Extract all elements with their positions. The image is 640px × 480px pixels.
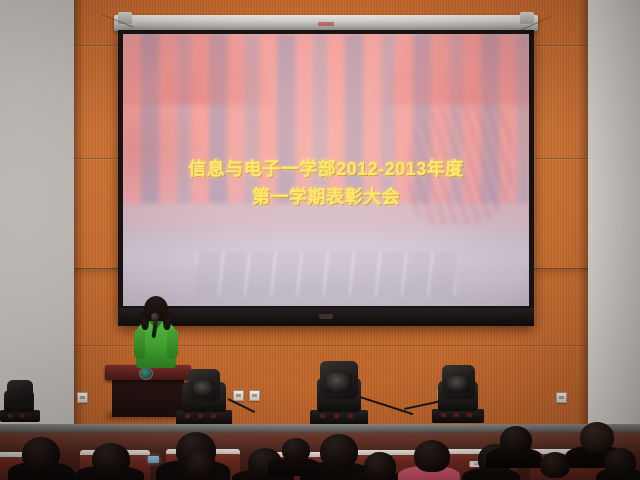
speaker-arm — [134, 329, 145, 359]
pillar-shadow — [74, 0, 84, 438]
light-head — [7, 380, 33, 404]
power-outlet-icon — [556, 392, 567, 403]
stage-light — [0, 380, 40, 422]
screen-pull-knob — [319, 314, 333, 319]
stage-light — [310, 359, 368, 425]
slide-title: 信息与电子一学部2012-2013年度 第一学期表彰大会 — [123, 156, 529, 212]
audience-head — [320, 434, 358, 468]
projected-slide: 信息与电子一学部2012-2013年度 第一学期表彰大会 — [123, 34, 529, 306]
stage-light — [176, 367, 232, 425]
slide-title-line-2: 第一学期表彰大会 — [123, 184, 529, 212]
baseboard — [0, 424, 640, 433]
left-pillar — [0, 0, 74, 438]
light-lens — [326, 373, 352, 393]
housing-logo — [318, 22, 334, 26]
audience-head — [282, 438, 310, 462]
power-outlet-icon — [233, 390, 244, 401]
screen-housing — [114, 15, 538, 31]
light-base — [310, 410, 368, 425]
speaker-person — [128, 296, 184, 368]
audience-head — [500, 426, 532, 454]
podium-emblem-icon — [139, 367, 153, 380]
stage-light — [432, 363, 484, 423]
light-lens — [447, 376, 470, 393]
power-outlet-icon — [249, 390, 260, 401]
audience-head — [604, 448, 636, 476]
photo-scene: 信息与电子一学部2012-2013年度 第一学期表彰大会 — [0, 0, 640, 480]
audience-head — [186, 452, 216, 478]
phone-screen — [148, 456, 159, 463]
light-base — [176, 410, 232, 425]
pillar-shadow — [578, 0, 588, 438]
housing-bracket — [520, 12, 534, 24]
audience-head — [22, 437, 60, 471]
audience-head — [92, 443, 130, 475]
audience-head — [364, 452, 396, 480]
screen-surface: 信息与电子一学部2012-2013年度 第一学期表彰大会 — [123, 34, 529, 306]
power-outlet-icon — [77, 392, 88, 403]
light-base — [432, 409, 484, 423]
microphone-head-icon — [151, 313, 159, 321]
audience-head — [540, 452, 570, 478]
light-lens — [193, 381, 215, 397]
projection-screen: 信息与电子一学部2012-2013年度 第一学期表彰大会 — [118, 30, 534, 326]
slide-title-line-1: 信息与电子一学部2012-2013年度 — [123, 156, 529, 184]
audience-head — [414, 440, 450, 472]
audience-head — [580, 422, 614, 452]
right-pillar — [588, 0, 640, 438]
podium-body — [112, 379, 184, 417]
speaker-arm — [167, 329, 178, 359]
